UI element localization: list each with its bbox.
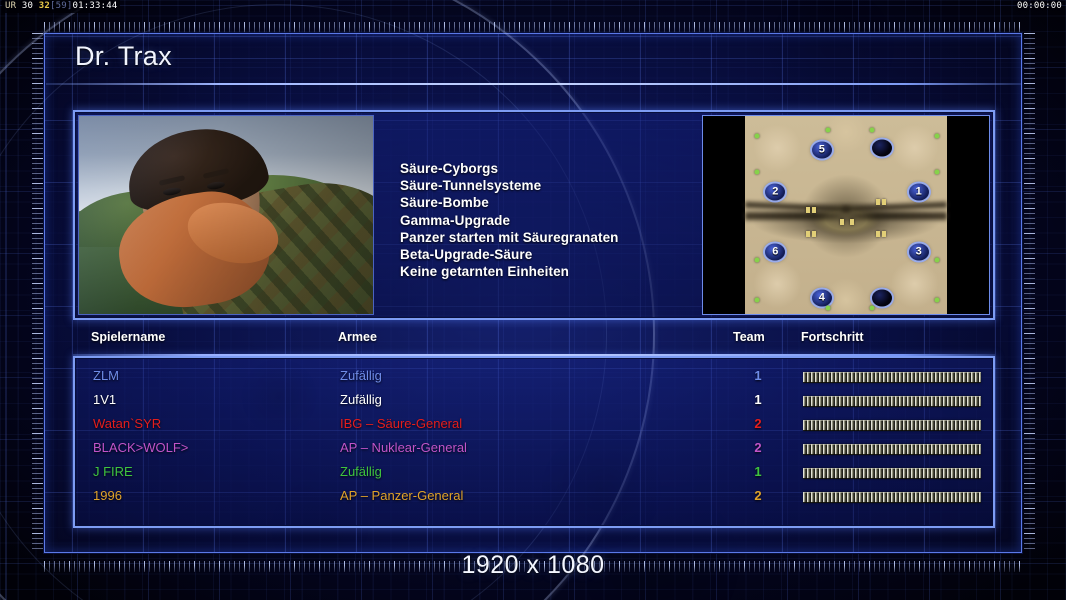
status-bar-left: UR 30 32[59]01:33:44 bbox=[2, 0, 120, 13]
player-team[interactable]: 2 bbox=[745, 416, 771, 431]
table-row[interactable]: BLACK>WOLF>AP – Nuklear-General2 bbox=[75, 440, 993, 464]
ability-item: Panzer starten mit Säuregranaten bbox=[400, 229, 619, 246]
column-header-army: Armee bbox=[338, 330, 377, 344]
player-team[interactable]: 1 bbox=[745, 464, 771, 479]
table-row[interactable]: J FIREZufällig1 bbox=[75, 464, 993, 488]
ability-item: Säure-Bombe bbox=[400, 194, 619, 211]
minimap-oil-derrick bbox=[806, 231, 810, 237]
minimap-start-position[interactable]: 3 bbox=[909, 244, 929, 261]
player-name[interactable]: 1996 bbox=[93, 488, 122, 503]
minimap-supply-dock bbox=[825, 306, 830, 311]
minimap-supply-dock bbox=[870, 128, 875, 133]
player-progress-bar bbox=[803, 492, 981, 503]
minimap-terrain: 521634 bbox=[745, 116, 947, 315]
player-progress-bar bbox=[803, 396, 981, 407]
resolution-label: 1920 x 1080 bbox=[0, 551, 1066, 580]
minimap-oil-derrick bbox=[806, 207, 810, 213]
player-army[interactable]: IBG – Säure-General bbox=[340, 416, 462, 431]
minimap-oil-derrick bbox=[882, 199, 886, 205]
general-portrait bbox=[78, 115, 374, 315]
title-divider bbox=[46, 83, 1022, 85]
player-progress-bar bbox=[803, 468, 981, 479]
minimap-supply-dock bbox=[934, 258, 939, 263]
status-value-2: 32 bbox=[39, 1, 50, 11]
ability-item: Gamma-Upgrade bbox=[400, 212, 619, 229]
player-team[interactable]: 2 bbox=[745, 440, 771, 455]
player-progress-bar bbox=[803, 444, 981, 455]
player-table-header: Spielername Armee Team Fortschritt bbox=[73, 330, 995, 354]
player-progress-bar bbox=[803, 420, 981, 431]
player-army[interactable]: AP – Nuklear-General bbox=[340, 440, 467, 455]
minimap-oil-derrick bbox=[882, 231, 886, 237]
minimap-oil-derrick bbox=[876, 199, 880, 205]
ability-item: Keine getarnten Einheiten bbox=[400, 263, 619, 280]
player-name[interactable]: 1V1 bbox=[93, 392, 116, 407]
table-row[interactable]: 1V1Zufällig1 bbox=[75, 392, 993, 416]
minimap-oil-derrick bbox=[812, 207, 816, 213]
player-progress-bar bbox=[803, 372, 981, 383]
general-abilities-list: Säure-CyborgsSäure-TunnelsystemeSäure-Bo… bbox=[400, 160, 619, 280]
main-panel: Dr. Trax Sä bbox=[44, 33, 1022, 553]
minimap-oil-derrick bbox=[876, 231, 880, 237]
minimap-start-position[interactable]: 6 bbox=[765, 244, 785, 261]
minimap-start-position-empty[interactable] bbox=[872, 290, 892, 307]
minimap-supply-dock bbox=[825, 128, 830, 133]
portrait-shading bbox=[79, 116, 373, 314]
minimap-supply-dock bbox=[755, 258, 760, 263]
column-header-progress: Fortschritt bbox=[801, 330, 864, 344]
column-header-player: Spielername bbox=[91, 330, 165, 344]
minimap-oil-derrick bbox=[840, 219, 844, 225]
minimap-start-position[interactable]: 5 bbox=[812, 142, 832, 159]
ability-item: Beta-Upgrade-Säure bbox=[400, 246, 619, 263]
player-army[interactable]: Zufällig bbox=[340, 368, 382, 383]
page-title: Dr. Trax bbox=[75, 41, 172, 72]
minimap-start-position-empty[interactable] bbox=[872, 140, 892, 157]
minimap-supply-dock bbox=[755, 298, 760, 303]
minimap-start-position[interactable]: 1 bbox=[909, 184, 929, 201]
player-name[interactable]: J FIRE bbox=[93, 464, 133, 479]
status-value-1: 30 bbox=[22, 1, 33, 11]
minimap-start-position[interactable]: 4 bbox=[812, 290, 832, 307]
minimap-oil-derrick bbox=[850, 219, 854, 225]
status-bracket: [59] bbox=[50, 1, 72, 11]
minimap-ravine-center bbox=[745, 212, 947, 220]
minimap-start-position[interactable]: 2 bbox=[765, 184, 785, 201]
player-name[interactable]: ZLM bbox=[93, 368, 119, 383]
minimap-supply-dock bbox=[870, 306, 875, 311]
minimap-oil-derrick bbox=[812, 231, 816, 237]
minimap-ravine-left bbox=[745, 202, 850, 213]
minimap-supply-dock bbox=[934, 298, 939, 303]
player-table: ZLMZufällig11V1Zufällig1Watan`SYRIBG – S… bbox=[73, 356, 995, 528]
player-team[interactable]: 2 bbox=[745, 488, 771, 503]
minimap-preview[interactable]: 521634 bbox=[702, 115, 990, 315]
player-army[interactable]: AP – Panzer-General bbox=[340, 488, 463, 503]
table-row[interactable]: 1996AP – Panzer-General2 bbox=[75, 488, 993, 512]
status-clock: 01:33:44 bbox=[72, 1, 117, 11]
table-row[interactable]: ZLMZufällig1 bbox=[75, 368, 993, 392]
player-team[interactable]: 1 bbox=[745, 368, 771, 383]
minimap-ravine-right bbox=[842, 202, 947, 213]
status-prefix: UR bbox=[5, 1, 16, 11]
title-bar: Dr. Trax bbox=[46, 35, 1022, 85]
ability-item: Säure-Cyborgs bbox=[400, 160, 619, 177]
minimap-supply-dock bbox=[755, 170, 760, 175]
ability-item: Säure-Tunnelsysteme bbox=[400, 177, 619, 194]
player-army[interactable]: Zufällig bbox=[340, 464, 382, 479]
general-info-box: Säure-CyborgsSäure-TunnelsystemeSäure-Bo… bbox=[73, 110, 995, 320]
player-name[interactable]: Watan`SYR bbox=[93, 416, 161, 431]
minimap-supply-dock bbox=[934, 134, 939, 139]
status-bar: UR 30 32[59]01:33:44 00:00:00 bbox=[0, 0, 1066, 13]
minimap-supply-dock bbox=[934, 170, 939, 175]
minimap-supply-dock bbox=[755, 134, 760, 139]
game-lobby-screen: UR 30 32[59]01:33:44 00:00:00 Dr. Trax bbox=[0, 0, 1066, 600]
player-army[interactable]: Zufällig bbox=[340, 392, 382, 407]
column-header-team: Team bbox=[733, 330, 765, 344]
status-bar-right-clock: 00:00:00 bbox=[1017, 0, 1062, 13]
table-row[interactable]: Watan`SYRIBG – Säure-General2 bbox=[75, 416, 993, 440]
player-name[interactable]: BLACK>WOLF> bbox=[93, 440, 188, 455]
player-team[interactable]: 1 bbox=[745, 392, 771, 407]
